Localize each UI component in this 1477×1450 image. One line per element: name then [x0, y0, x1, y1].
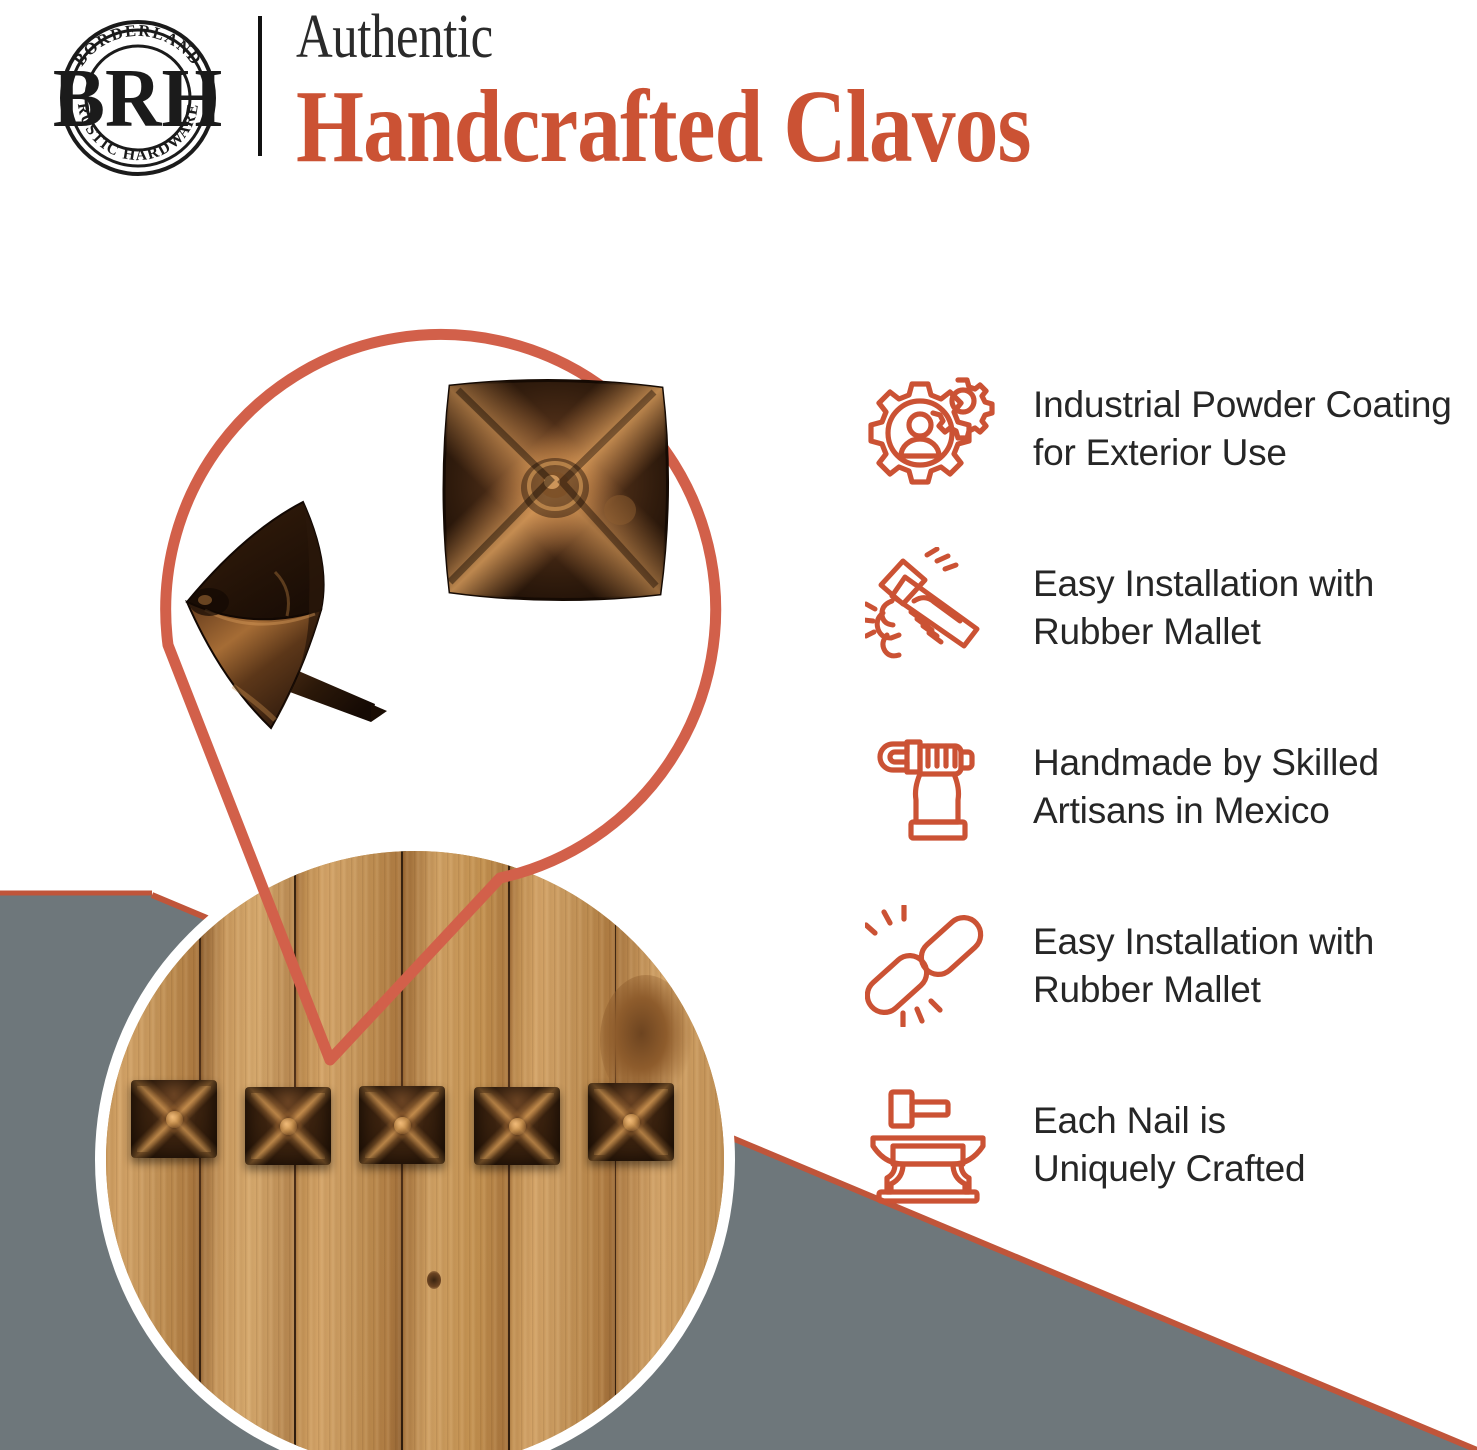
- feature-item: Each Nail is Uniquely Crafted: [862, 1084, 1472, 1206]
- feature-text: Easy Installation with Rubber Mallet: [1033, 918, 1374, 1014]
- logo-monogram: BRH: [53, 51, 222, 144]
- hand-mallet-icon: [862, 547, 997, 669]
- page-title-line1: Authentic: [296, 6, 1013, 68]
- feature-text: Industrial Powder Coating for Exterior U…: [1033, 381, 1452, 477]
- feature-item: Easy Installation with Rubber Mallet: [862, 547, 1472, 669]
- fist-wrench-icon: [862, 726, 997, 848]
- header-titles: Authentic Handcrafted Clavos: [296, 6, 1171, 180]
- feature-line2: Rubber Mallet: [1033, 608, 1374, 656]
- clavo-head: [131, 1080, 217, 1158]
- product-visual-stage: [0, 190, 830, 1450]
- gear-person-icon: [862, 368, 997, 490]
- clavo-head: [245, 1087, 331, 1165]
- feature-line1: Industrial Powder Coating: [1033, 381, 1452, 429]
- wood-door-image: [106, 851, 724, 1450]
- feature-line2: Uniquely Crafted: [1033, 1145, 1305, 1193]
- brand-logo: BORDERLAND RUSTIC HARDWARE BRH: [52, 14, 222, 179]
- feature-line1: Easy Installation with: [1033, 918, 1374, 966]
- infographic-canvas: BORDERLAND RUSTIC HARDWARE BRH Authentic…: [0, 0, 1477, 1450]
- feature-line2: Artisans in Mexico: [1033, 787, 1379, 835]
- installed-clavos-photo: [95, 840, 735, 1450]
- header-divider: [258, 16, 262, 156]
- chain-link-icon: [862, 905, 997, 1027]
- page-title-line2: Handcrafted Clavos: [296, 74, 1031, 180]
- feature-item: Handmade by Skilled Artisans in Mexico: [862, 726, 1472, 848]
- feature-text: Each Nail is Uniquely Crafted: [1033, 1097, 1305, 1193]
- feature-text: Handmade by Skilled Artisans in Mexico: [1033, 739, 1379, 835]
- feature-line1: Easy Installation with: [1033, 560, 1374, 608]
- clavo-face-view: [430, 370, 680, 612]
- feature-line1: Each Nail is: [1033, 1097, 1305, 1145]
- clavo-head: [359, 1086, 445, 1164]
- header: BORDERLAND RUSTIC HARDWARE BRH Authentic…: [0, 0, 1477, 190]
- feature-line2: for Exterior Use: [1033, 429, 1452, 477]
- anvil-hammer-icon: [862, 1084, 997, 1206]
- feature-list: Industrial Powder Coating for Exterior U…: [862, 368, 1472, 1206]
- clavo-head: [588, 1083, 674, 1161]
- feature-text: Easy Installation with Rubber Mallet: [1033, 560, 1374, 656]
- feature-item: Easy Installation with Rubber Mallet: [862, 905, 1472, 1027]
- feature-line2: Rubber Mallet: [1033, 966, 1374, 1014]
- feature-line1: Handmade by Skilled: [1033, 739, 1379, 787]
- clavo-head: [474, 1087, 560, 1165]
- clavo-side-view: [175, 490, 445, 790]
- feature-item: Industrial Powder Coating for Exterior U…: [862, 368, 1472, 490]
- seal-icon: BORDERLAND RUSTIC HARDWARE BRH: [52, 14, 222, 179]
